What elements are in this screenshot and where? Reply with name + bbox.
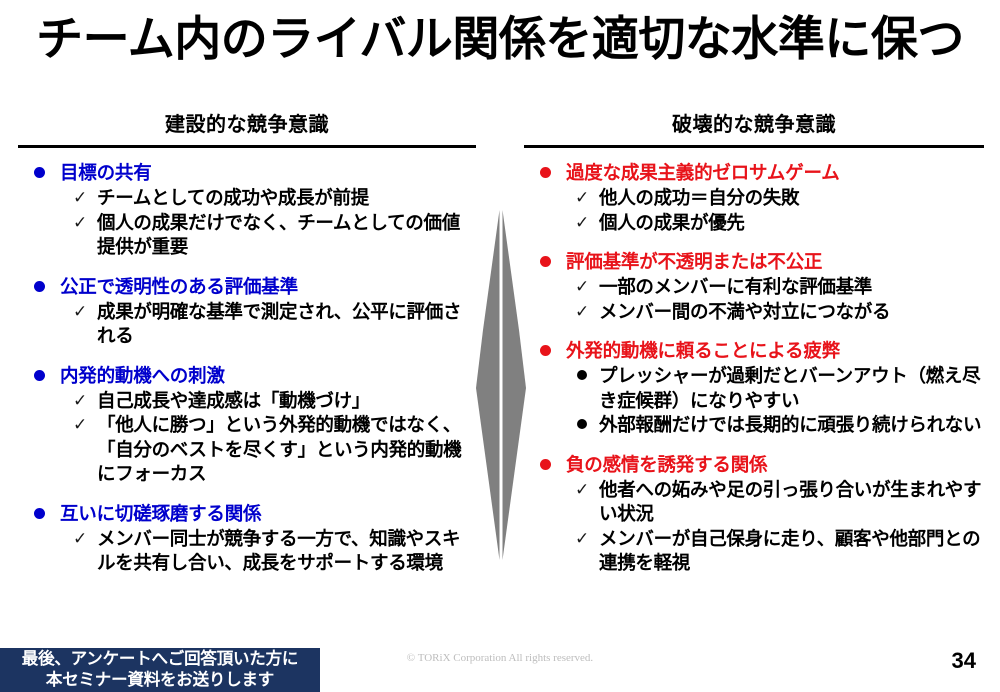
bullet-dot-icon — [34, 281, 45, 292]
bullet-dot-icon — [540, 167, 551, 178]
list-item-label: 他人の成功＝自分の失敗 — [599, 186, 799, 211]
slide-canvas: チーム内のライバル関係を適切な水準に保つ 建設的な競争意識 目標の共有 ✓ チー… — [0, 0, 1000, 692]
group-heading: 公正で透明性のある評価基準 — [18, 274, 476, 299]
group-heading: 内発的動機への刺激 — [18, 363, 476, 388]
group-goal-sharing: 目標の共有 ✓ チームとしての成功や成長が前提 ✓ 個人の成果だけでなく、チーム… — [18, 160, 476, 260]
list-item: プレッシャーが過剰だとバーンアウト（燃え尽き症候群）になりやすい — [524, 364, 984, 413]
copyright-text: © TORiX Corporation All rights reserved. — [0, 652, 1000, 664]
list-item-label: メンバー間の不満や対立につながる — [599, 300, 890, 325]
constructive-column: 建設的な競争意識 目標の共有 ✓ チームとしての成功や成長が前提 ✓ 個人の成果… — [18, 112, 476, 576]
check-icon: ✓ — [572, 300, 592, 325]
group-heading: 目標の共有 — [18, 160, 476, 185]
list-item: ✓ 他人の成功＝自分の失敗 — [524, 186, 984, 211]
check-icon: ✓ — [572, 275, 592, 300]
group-heading: 互いに切磋琢磨する関係 — [18, 501, 476, 526]
seminar-notice-line-2: 本セミナー資料をお送りします — [46, 670, 274, 691]
list-item-label: 成果が明確な基準で測定され、公平に評価される — [97, 300, 476, 349]
list-item: ✓ メンバー同士が競争する一方で、知識やスキルを共有し合い、成長をサポートする環… — [18, 527, 476, 576]
group-sub-list: ✓ 一部のメンバーに有利な評価基準 ✓ メンバー間の不満や対立につながる — [524, 275, 984, 324]
group-sub-list: ✓ 他人の成功＝自分の失敗 ✓ 個人の成果が優先 — [524, 186, 984, 235]
group-negative-emotions: 負の感情を誘発する関係 ✓ 他者への妬みや足の引っ張り合いが生まれやすい状況 ✓… — [524, 452, 984, 576]
group-zero-sum-game: 過度な成果主義的ゼロサムゲーム ✓ 他人の成功＝自分の失敗 ✓ 個人の成果が優先 — [524, 160, 984, 235]
group-heading-label: 負の感情を誘発する関係 — [566, 452, 767, 477]
group-heading: 負の感情を誘発する関係 — [524, 452, 984, 477]
group-heading-label: 互いに切磋琢磨する関係 — [60, 501, 261, 526]
list-item-label: 一部のメンバーに有利な評価基準 — [599, 275, 872, 300]
list-item-label: メンバーが自己保身に走り、顧客や他部門との連携を軽視 — [599, 527, 984, 576]
list-item-label: 個人の成果だけでなく、チームとしての価値提供が重要 — [97, 211, 476, 260]
check-icon: ✓ — [572, 211, 592, 236]
bullet-disc-icon — [572, 364, 592, 389]
list-item-label: チームとしての成功や成長が前提 — [97, 186, 369, 211]
bullet-dot-icon — [34, 508, 45, 519]
destructive-column: 破壊的な競争意識 過度な成果主義的ゼロサムゲーム ✓ 他人の成功＝自分の失敗 ✓… — [524, 112, 984, 576]
group-sub-list: プレッシャーが過剰だとバーンアウト（燃え尽き症候群）になりやすい 外部報酬だけで… — [524, 364, 984, 438]
group-sub-list: ✓ 他者への妬みや足の引っ張り合いが生まれやすい状況 ✓ メンバーが自己保身に走… — [524, 478, 984, 576]
list-item-label: 自己成長や達成感は「動機づけ」 — [97, 389, 370, 414]
group-intrinsic-motivation: 内発的動機への刺激 ✓ 自己成長や達成感は「動機づけ」 ✓ 「他人に勝つ」という… — [18, 363, 476, 487]
bullet-disc-icon — [572, 413, 592, 438]
constructive-column-divider-rule — [18, 145, 476, 148]
group-sub-list: ✓ メンバー同士が競争する一方で、知識やスキルを共有し合い、成長をサポートする環… — [18, 527, 476, 576]
group-opaque-criteria: 評価基準が不透明または不公正 ✓ 一部のメンバーに有利な評価基準 ✓ メンバー間… — [524, 249, 984, 324]
list-item: ✓ メンバーが自己保身に走り、顧客や他部門との連携を軽視 — [524, 527, 984, 576]
group-heading-label: 内発的動機への刺激 — [60, 363, 225, 388]
group-heading-label: 評価基準が不透明または不公正 — [566, 249, 822, 274]
check-icon: ✓ — [572, 186, 592, 211]
check-icon: ✓ — [70, 413, 90, 438]
group-heading-label: 過度な成果主義的ゼロサムゲーム — [566, 160, 840, 185]
group-heading: 過度な成果主義的ゼロサムゲーム — [524, 160, 984, 185]
group-sub-list: ✓ チームとしての成功や成長が前提 ✓ 個人の成果だけでなく、チームとしての価値… — [18, 186, 476, 260]
check-icon: ✓ — [70, 186, 90, 211]
bullet-dot-icon — [34, 370, 45, 381]
list-item-label: メンバー同士が競争する一方で、知識やスキルを共有し合い、成長をサポートする環境 — [97, 527, 476, 576]
group-extrinsic-exhaustion: 外発的動機に頼ることによる疲弊 プレッシャーが過剰だとバーンアウト（燃え尽き症候… — [524, 338, 984, 438]
check-icon: ✓ — [70, 300, 90, 325]
destructive-column-header: 破壊的な競争意識 — [524, 112, 984, 138]
bullet-dot-icon — [540, 256, 551, 267]
list-item: ✓ チームとしての成功や成長が前提 — [18, 186, 476, 211]
list-item-label: プレッシャーが過剰だとバーンアウト（燃え尽き症候群）になりやすい — [599, 364, 984, 413]
group-sub-list: ✓ 自己成長や達成感は「動機づけ」 ✓ 「他人に勝つ」という外発的動機ではなく、… — [18, 389, 476, 487]
group-heading: 評価基準が不透明または不公正 — [524, 249, 984, 274]
list-item: ✓ 個人の成果だけでなく、チームとしての価値提供が重要 — [18, 211, 476, 260]
destructive-column-divider-rule — [524, 145, 984, 148]
list-item: ✓ 他者への妬みや足の引っ張り合いが生まれやすい状況 — [524, 478, 984, 527]
bullet-dot-icon — [34, 167, 45, 178]
group-heading: 外発的動機に頼ることによる疲弊 — [524, 338, 984, 363]
check-icon: ✓ — [70, 211, 90, 236]
check-icon: ✓ — [70, 527, 90, 552]
list-item: ✓ 成果が明確な基準で測定され、公平に評価される — [18, 300, 476, 349]
list-item: ✓ 一部のメンバーに有利な評価基準 — [524, 275, 984, 300]
group-heading-label: 外発的動機に頼ることによる疲弊 — [566, 338, 840, 363]
check-icon: ✓ — [572, 527, 592, 552]
group-heading-label: 目標の共有 — [60, 160, 152, 185]
constructive-column-header: 建設的な競争意識 — [18, 112, 476, 138]
group-heading-label: 公正で透明性のある評価基準 — [60, 274, 298, 299]
check-icon: ✓ — [70, 389, 90, 414]
list-item-label: 個人の成果が優先 — [599, 211, 745, 236]
group-sub-list: ✓ 成果が明確な基準で測定され、公平に評価される — [18, 300, 476, 349]
bullet-dot-icon — [540, 459, 551, 470]
list-item-label: 「他人に勝つ」という外発的動機ではなく、「自分のベストを尽くす」という内発的動機… — [97, 413, 476, 487]
center-divider-shape-icon — [470, 210, 532, 560]
page-number: 34 — [952, 648, 976, 674]
list-item: ✓ 個人の成果が優先 — [524, 211, 984, 236]
page-title: チーム内のライバル関係を適切な水準に保つ — [0, 8, 1000, 70]
list-item: ✓ メンバー間の不満や対立につながる — [524, 300, 984, 325]
group-mutual-improvement: 互いに切磋琢磨する関係 ✓ メンバー同士が競争する一方で、知識やスキルを共有し合… — [18, 501, 476, 576]
list-item: ✓ 「他人に勝つ」という外発的動機ではなく、「自分のベストを尽くす」という内発的… — [18, 413, 476, 487]
list-item-label: 外部報酬だけでは長期的に頑張り続けられない — [599, 413, 981, 438]
group-fair-evaluation: 公正で透明性のある評価基準 ✓ 成果が明確な基準で測定され、公平に評価される — [18, 274, 476, 349]
bullet-dot-icon — [540, 345, 551, 356]
list-item: ✓ 自己成長や達成感は「動機づけ」 — [18, 389, 476, 414]
list-item: 外部報酬だけでは長期的に頑張り続けられない — [524, 413, 984, 438]
list-item-label: 他者への妬みや足の引っ張り合いが生まれやすい状況 — [599, 478, 984, 527]
check-icon: ✓ — [572, 478, 592, 503]
